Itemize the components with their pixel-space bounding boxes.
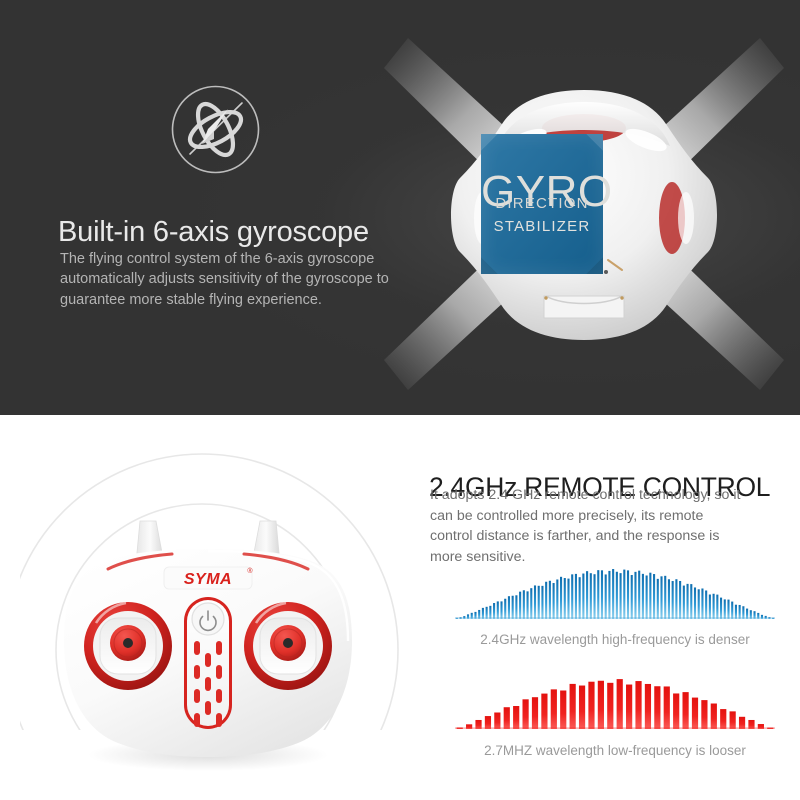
syma-brand-text: SYMA (184, 571, 232, 588)
caption-low-frequency: 2.7MHZ wavelength low-frequency is loose… (435, 742, 795, 760)
gyroscope-icon (168, 82, 263, 177)
description-line-2: can be controlled more precisely, its re… (430, 506, 777, 527)
remote-control-description: It adopts 2.4 GHz remote control technol… (430, 485, 777, 567)
caption-high-frequency: 2.4GHz wavelength high-frequency is dens… (435, 631, 795, 649)
gyro-chip-badge: GYRO DIRECTION STABILIZER (481, 134, 603, 274)
product-feature-page: GYRO DIRECTION STABILIZER Built-in 6-axi… (0, 0, 800, 800)
chip-subtitle-stabilizer: STABILIZER (481, 219, 603, 234)
waveform-high-frequency (455, 563, 775, 625)
gyroscope-description: The flying control system of the 6-axis … (60, 249, 405, 311)
description-line-3: control distance is farther, and the res… (430, 526, 777, 547)
page-title: Built-in 6-axis gyroscope (58, 214, 418, 250)
chip-subtitle-direction: DIRECTION (481, 196, 603, 211)
remote-controller-illustration: SYMA ® (48, 493, 368, 793)
remote-control-feature-panel: SYMA ® 2.4GHz REMOTE CONTROL It adopts 2… (0, 415, 800, 800)
registered-mark: ® (247, 567, 253, 575)
description-line-1: It adopts 2.4 GHz remote control technol… (430, 485, 777, 506)
waveform-low-frequency (455, 673, 775, 735)
gyroscope-feature-panel: GYRO DIRECTION STABILIZER Built-in 6-axi… (0, 0, 800, 415)
